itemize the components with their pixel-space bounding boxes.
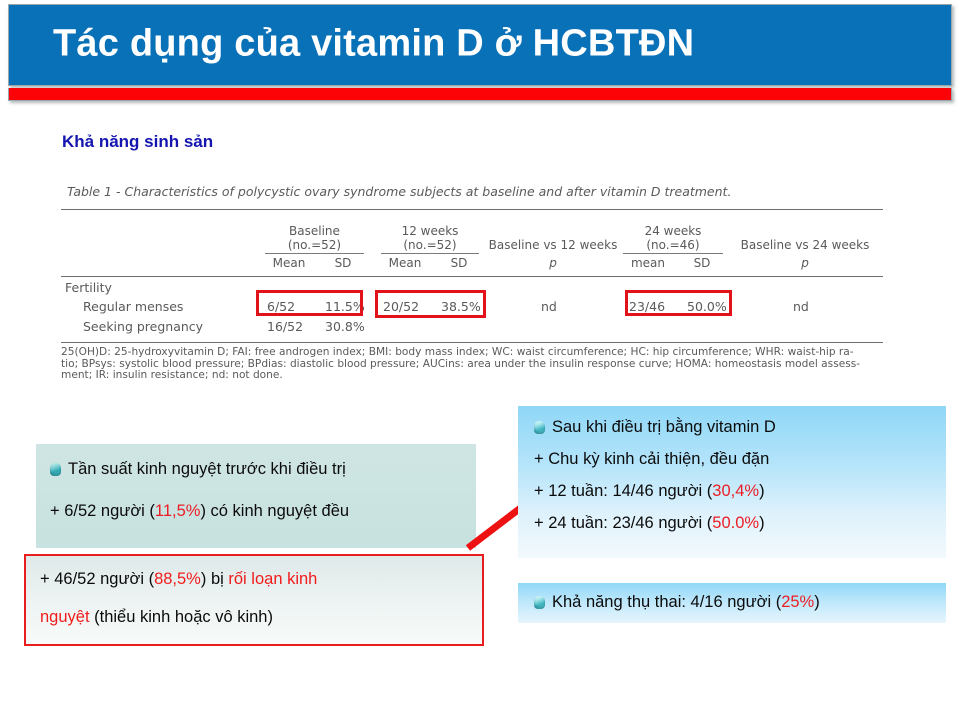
callout-after-treatment-line2: + Chu kỳ kinh cải thiện, đều đặn: [534, 448, 946, 470]
table-caption: Table 1 - Characteristics of polycystic …: [67, 184, 731, 199]
bullet-gem-icon: [534, 421, 545, 434]
emphasis-nguyet: nguyệt: [40, 608, 90, 626]
table-subheader-24weeks-mean: mean: [623, 256, 673, 270]
callout-after-treatment: Sau khi điều trị bằng vitamin D + Chu kỳ…: [518, 406, 946, 558]
callout-after-treatment-line4: + 24 tuần: 23/46 người (50.0%): [534, 512, 946, 534]
table-subrule-24weeks: [623, 253, 723, 254]
callout-menstrual-disorder: + 46/52 người (88,5%) bị rối loạn kinh n…: [24, 554, 484, 646]
table-subheader-12weeks-mean: Mean: [381, 256, 429, 270]
callout-before-treatment: Tần suất kinh nguyệt trước khi điều trị …: [36, 444, 476, 548]
table-subrule-12weeks: [381, 253, 479, 254]
table-subheader-baseline-sd: SD: [323, 256, 363, 270]
value-menstrual-disorder-pct: 88,5%: [154, 570, 201, 588]
highlight-box-12weeks: [375, 290, 486, 318]
table-rule-middle: [61, 276, 883, 277]
page-title: Tác dụng của vitamin D ở HCBTĐN: [53, 23, 694, 66]
table-rule-bottom: [61, 342, 883, 343]
table-rule-top: [61, 209, 883, 210]
highlight-box-24weeks: [625, 290, 732, 316]
table-subheader-12weeks-sd: SD: [439, 256, 479, 270]
table-footnote: 25(OH)D: 25-hydroxyvitamin D; FAI: free …: [61, 347, 887, 382]
table-header-baseline-vs-12weeks: Baseline vs 12 weeks: [485, 238, 621, 252]
callout-conception-rate-line1: Khả năng thụ thai: 4/16 người (25%): [534, 591, 946, 613]
table-header-24weeks: 24 weeks (no.=46): [623, 224, 723, 252]
callout-before-treatment-line2: + 6/52 người (11,5%) có kinh nguyệt đều: [50, 500, 476, 522]
callout-menstrual-disorder-line2: nguyệt (thiểu kinh hoặc vô kinh): [40, 606, 482, 628]
table-subheader-baseline-mean: Mean: [265, 256, 313, 270]
callout-after-treatment-line1: Sau khi điều trị bằng vitamin D: [534, 416, 946, 438]
cell-seeking-pregnancy-baseline-sd: 30.8%: [325, 319, 365, 334]
value-regular-menses-baseline-pct: 11,5%: [155, 502, 201, 520]
title-underline-rule: [8, 88, 952, 101]
cell-seeking-pregnancy-baseline-mean: 16/52: [267, 319, 303, 334]
value-conception-pct: 25%: [781, 593, 814, 611]
table-row-label-regular-menses: Regular menses: [83, 299, 183, 314]
value-12weeks-pct: 30,4%: [712, 482, 759, 500]
table-header-baseline: Baseline (no.=52): [265, 224, 364, 252]
value-24weeks-pct: 50.0%: [712, 514, 759, 532]
section-subheading: Khả năng sinh sản: [62, 132, 213, 152]
table-subheader-p-12weeks: p: [485, 256, 621, 270]
journal-table-figure: Table 1 - Characteristics of polycystic …: [57, 176, 887, 386]
table-subrule-baseline: [265, 253, 364, 254]
table-row-label-seeking-pregnancy: Seeking pregnancy: [83, 319, 203, 334]
cell-regular-menses-p-12weeks: nd: [541, 299, 557, 314]
callout-conception-rate: Khả năng thụ thai: 4/16 người (25%): [518, 583, 946, 623]
callout-after-treatment-line3: + 12 tuần: 14/46 người (30,4%): [534, 480, 946, 502]
bullet-gem-icon: [534, 596, 545, 609]
table-subheader-24weeks-sd: SD: [681, 256, 723, 270]
table-header-12weeks: 12 weeks (no.=52): [381, 224, 479, 252]
callout-before-treatment-line1: Tần suất kinh nguyệt trước khi điều trị: [50, 458, 476, 480]
emphasis-roi-loan-kinh: rối loạn kinh: [228, 570, 317, 588]
table-header-baseline-vs-24weeks: Baseline vs 24 weeks: [729, 238, 881, 252]
cell-regular-menses-p-24weeks: nd: [793, 299, 809, 314]
callout-menstrual-disorder-line1: + 46/52 người (88,5%) bị rối loạn kinh: [40, 568, 482, 590]
table-subheader-p-24weeks: p: [729, 256, 881, 270]
slide-title-banner: Tác dụng của vitamin D ở HCBTĐN: [8, 4, 952, 86]
bullet-gem-icon: [50, 463, 61, 476]
highlight-box-baseline: [256, 290, 363, 316]
table-section-label-fertility: Fertility: [65, 280, 112, 295]
